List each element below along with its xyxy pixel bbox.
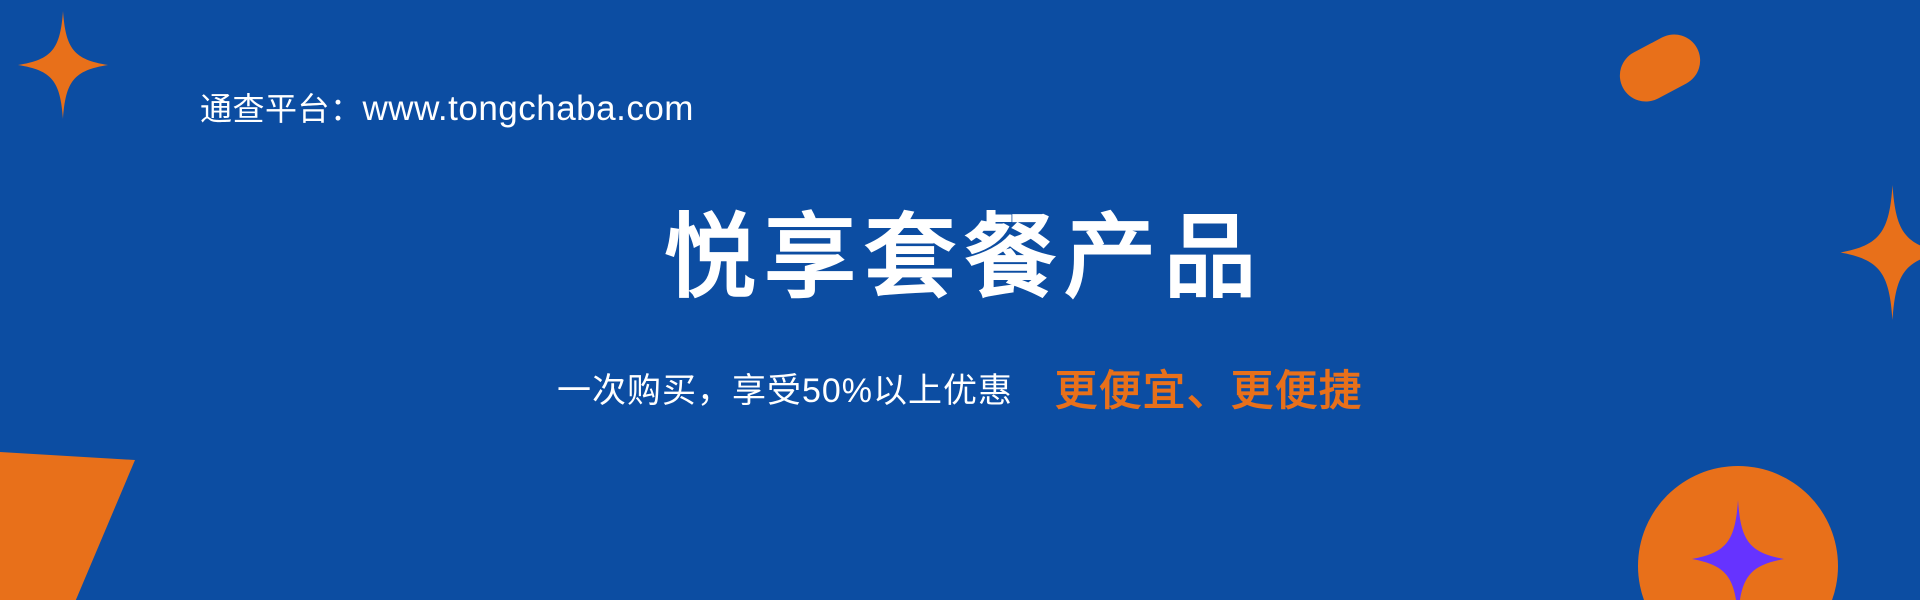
- content-layer: 通查平台：www.tongchaba.com 悦享套餐产品 一次购买，享受50%…: [0, 0, 1920, 600]
- platform-label: 通查平台：: [200, 91, 363, 127]
- platform-url: www.tongchaba.com: [363, 89, 694, 128]
- subtitle-white-text: 一次购买，享受50%以上优惠: [557, 372, 1013, 410]
- subtitle-orange-text: 更便宜、更便捷: [1055, 367, 1363, 414]
- promo-banner: 通查平台：www.tongchaba.com 悦享套餐产品 一次购买，享受50%…: [0, 0, 1920, 600]
- subtitle-line: 一次购买，享受50%以上优惠更便宜、更便捷: [0, 370, 1920, 412]
- platform-line: 通查平台：www.tongchaba.com: [200, 84, 694, 130]
- page-title: 悦享套餐产品: [0, 212, 1920, 304]
